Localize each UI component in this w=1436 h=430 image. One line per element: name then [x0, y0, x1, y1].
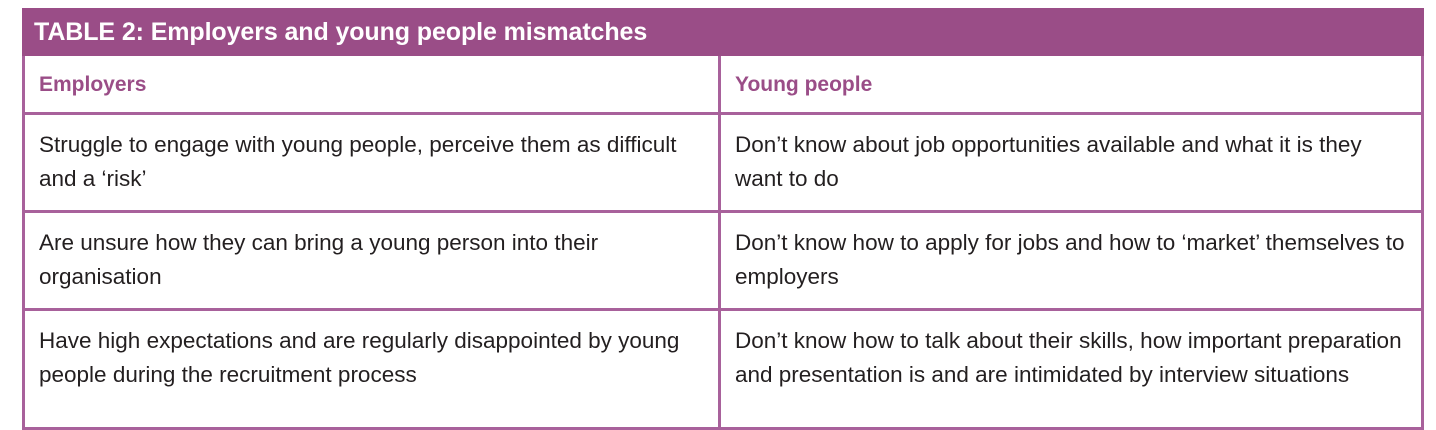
column-header-cell-employers: Employers: [25, 56, 721, 112]
column-header-label-young-people: Young people: [735, 72, 1405, 98]
table-2-container: TABLE 2: Employers and young people mism…: [22, 8, 1424, 430]
table-cell-text: Struggle to engage with young people, pe…: [39, 128, 702, 196]
table-row: Struggle to engage with young people, pe…: [25, 112, 1421, 210]
table-cell-text: Have high expectations and are regularly…: [39, 324, 702, 392]
table-cell-employers: Struggle to engage with young people, pe…: [25, 115, 721, 210]
table-cell-employers: Are unsure how they can bring a young pe…: [25, 213, 721, 308]
table-cell-young-people: Don’t know how to apply for jobs and how…: [721, 213, 1421, 308]
column-header-cell-young-people: Young people: [721, 56, 1421, 112]
table-cell-young-people: Don’t know how to talk about their skill…: [721, 311, 1421, 427]
table-cell-young-people: Don’t know about job opportunities avail…: [721, 115, 1421, 210]
table-cell-text: Don’t know how to apply for jobs and how…: [735, 226, 1405, 294]
table-header-row: Employers Young people: [25, 56, 1421, 112]
table-cell-text: Don’t know how to talk about their skill…: [735, 324, 1405, 392]
table-row: Are unsure how they can bring a young pe…: [25, 210, 1421, 308]
table-row: Have high expectations and are regularly…: [25, 308, 1421, 427]
table-cell-text: Are unsure how they can bring a young pe…: [39, 226, 702, 294]
column-header-label-employers: Employers: [39, 72, 702, 98]
table-title-bar: TABLE 2: Employers and young people mism…: [22, 8, 1424, 56]
table-cell-employers: Have high expectations and are regularly…: [25, 311, 721, 427]
table-grid: Employers Young people Struggle to engag…: [22, 56, 1424, 430]
table-cell-text: Don’t know about job opportunities avail…: [735, 128, 1405, 196]
